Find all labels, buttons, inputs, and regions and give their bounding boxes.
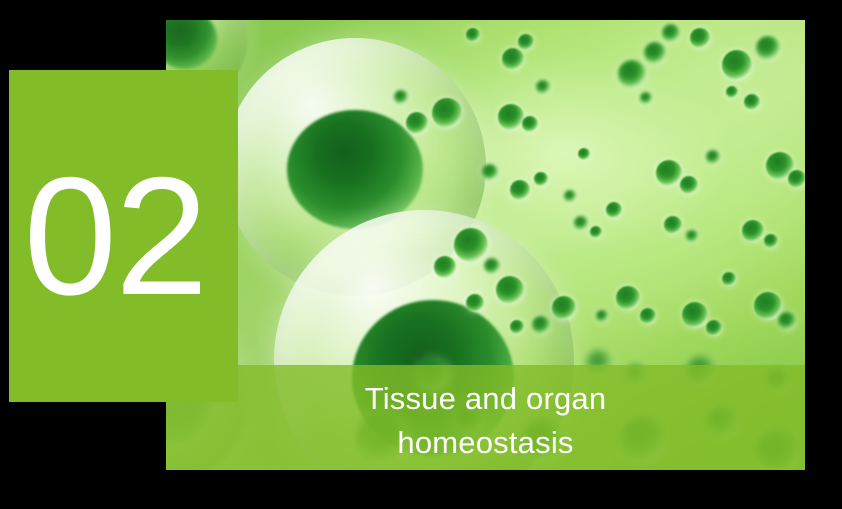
bacteria-dot [778,312,796,330]
bacteria-dot [498,104,524,130]
bacteria-dot [640,308,656,324]
bacteria-dot [552,296,576,320]
bacteria-dot [686,230,698,242]
bacteria-dot [616,286,640,310]
cell-photo-card: Tissue and organ homeostasis [166,20,805,470]
bacteria-dot [682,302,708,328]
bacteria-dot [482,164,498,180]
bacteria-dot [756,36,780,60]
bacteria-dot [644,42,666,64]
section-number-block: 02 [9,70,238,402]
bacteria-dot [656,160,682,186]
bacteria-dot [754,292,782,320]
bacteria-dot [522,116,538,132]
bacteria-dot [596,310,608,322]
caption-text: Tissue and organ homeostasis [166,377,805,465]
bacteria-dot [788,170,805,188]
bacteria-dot [406,112,428,134]
bacteria-dot [466,294,484,312]
bacteria-dot [742,220,764,242]
bacteria-dot [510,320,524,334]
bacteria-dot [574,216,588,230]
bacteria-dot [590,226,602,238]
bacteria-dot [496,276,524,304]
bacteria-dot [744,94,760,110]
bacteria-dot [722,272,736,286]
bacteria-dot [466,28,480,42]
bacteria-dot [764,234,778,248]
slide-canvas: Tissue and organ homeostasis 02 [0,0,842,509]
bacteria-dot [706,150,720,164]
caption-overlay-band: Tissue and organ homeostasis [166,365,805,470]
bacteria-dot [578,148,590,160]
bacteria-dot [394,90,408,104]
bacteria-dot [606,202,622,218]
bacteria-dot [510,180,530,200]
bacteria-dot [722,50,752,80]
bacteria-dot [534,172,548,186]
bacteria-dot [680,176,698,194]
bacteria-dot [434,256,456,278]
bacteria-dot [640,92,652,104]
bacteria-dot [618,60,646,88]
bacteria-dot [662,24,680,42]
bacteria-dot [536,80,550,94]
bacteria-dot [532,316,550,334]
bacteria-dot [726,86,738,98]
bacteria-dot [432,98,462,128]
bacteria-dot [690,28,710,48]
bacteria-dot [454,228,488,262]
bacteria-dot [564,190,576,202]
bacteria-dot [518,34,534,50]
bacteria-dot [706,320,722,336]
bacteria-dot [664,216,682,234]
section-number-text: 02 [9,152,238,320]
bacteria-dot [484,258,500,274]
bacteria-dot [502,48,524,70]
